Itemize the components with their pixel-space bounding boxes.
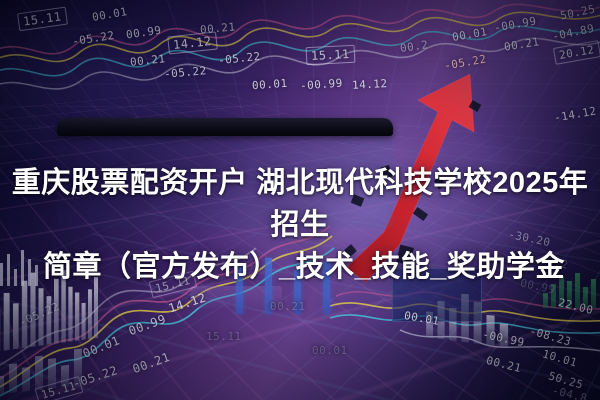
headline-line-1: 重庆股票配资开户 湖北现代科技学校2025年招生 (0, 162, 600, 246)
ticker-value: 14.12 (352, 77, 388, 92)
thumbnail-image: 15.11 00.01 -05.22 00.99 14.12 00.21 -05… (0, 0, 600, 400)
page-title: 重庆股票配资开户 湖北现代科技学校2025年招生 简章（官方发布）_技术_技能_… (0, 162, 600, 288)
monitor-screen (57, 118, 393, 136)
headline-line-2: 简章（官方发布）_技术_技能_奖助学金 (0, 246, 600, 288)
ticker-value: 00.01 (312, 344, 348, 357)
ticker-value: 15.11 (306, 45, 356, 66)
ticker-value: 15.11 (206, 330, 242, 343)
ticker-value: 00.01 (252, 77, 288, 92)
ticker-value: 00.21 (270, 300, 306, 313)
